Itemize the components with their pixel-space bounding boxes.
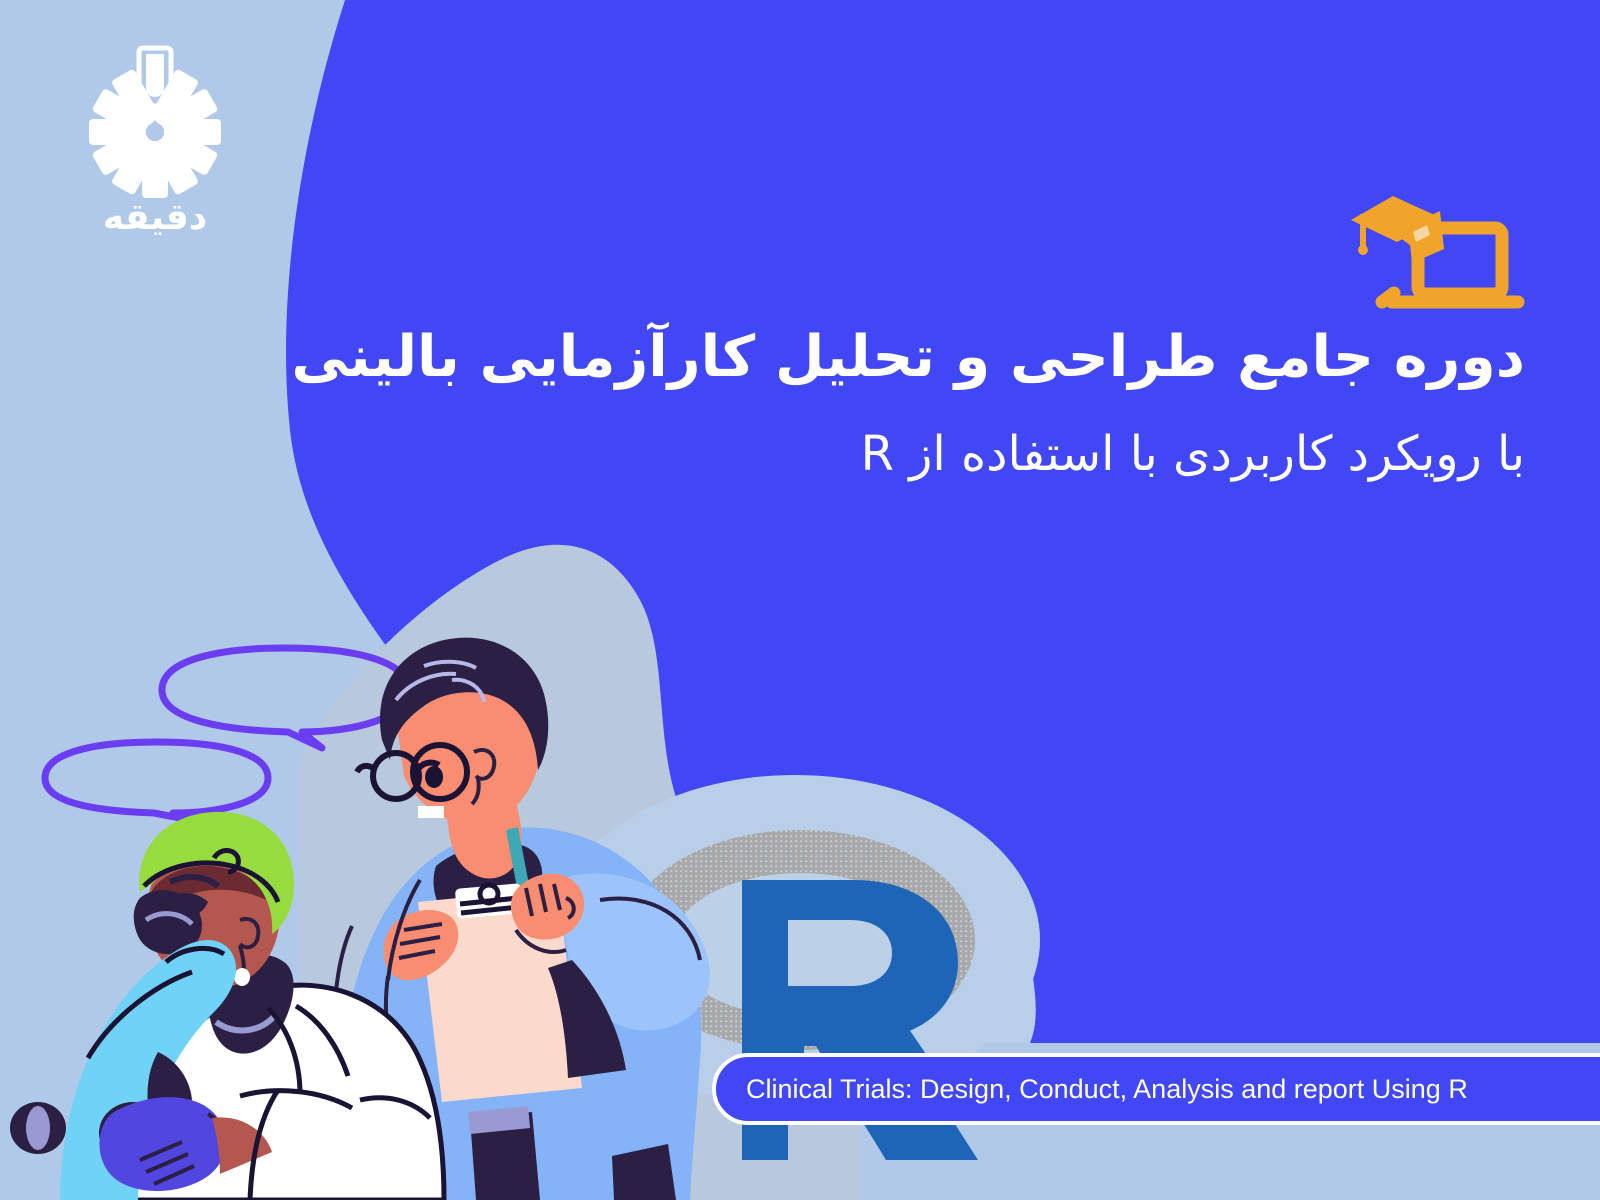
course-name-pill[interactable]: Clinical Trials: Design, Conduct, Analys…: [712, 1053, 1600, 1125]
poster-canvas: دقیقه دوره جامع طراحی و تحلیل کارآزمایی …: [0, 0, 1600, 1200]
course-name-label: Clinical Trials: Design, Conduct, Analys…: [716, 1074, 1468, 1105]
test-tube-circle-icon: [60, 40, 250, 200]
brand-logo[interactable]: دقیقه: [60, 40, 250, 240]
brand-wordmark: دقیقه: [60, 200, 250, 236]
